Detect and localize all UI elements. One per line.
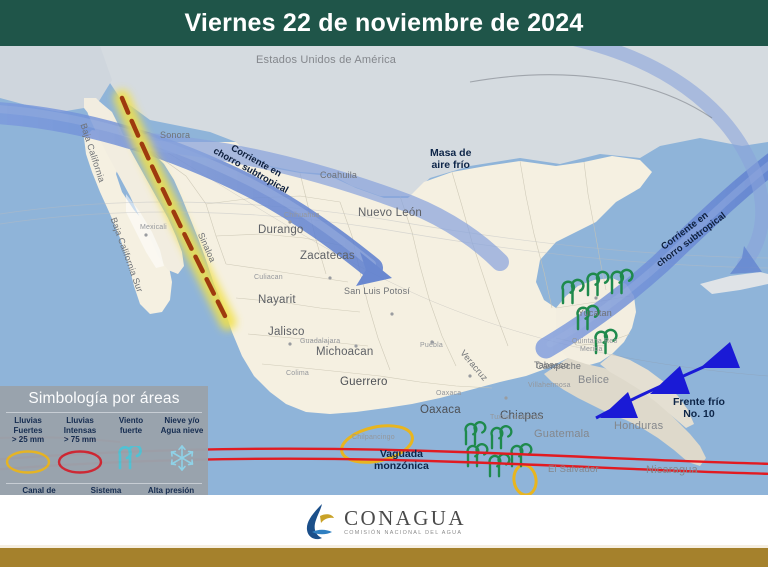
legend-divider-top (6, 412, 202, 413)
legend-item-intense-rain: Lluvias Intensas > 75 mm (54, 416, 106, 481)
legend-item-snow: Nieve y/o Agua nieve (156, 416, 208, 478)
monsoon-trough-line1: Vaguada (374, 448, 429, 460)
legend-item-frontal-system: Sistema frontal (76, 486, 136, 495)
cold-front-annotation: Frente frío No. 10 (673, 396, 725, 420)
legend-low-pressure-l1: Canal de (2, 486, 76, 495)
legend-snow-l2: Agua nieve (156, 426, 208, 436)
footer-gold-bar (0, 548, 768, 567)
legend-strong-wind-art (106, 446, 156, 480)
footer-bar: CONAGUA COMISIÓN NACIONAL DEL AGUA (0, 495, 768, 548)
legend-intense-rain-art (54, 447, 106, 481)
legend-intense-rain-caption: Lluvias Intensas > 75 mm (54, 416, 106, 445)
conagua-name: CONAGUA (344, 508, 466, 528)
legend-item-strong-wind: Viento fuerte (106, 416, 156, 480)
conagua-subtitle: COMISIÓN NACIONAL DEL AGUA (344, 530, 466, 536)
cold-air-mass-line1: Masa de (430, 147, 471, 159)
legend-item-low-pressure: Canal de baja presión (2, 486, 76, 495)
cold-front-line2: No. 10 (673, 408, 725, 420)
snowflake-icon (156, 444, 208, 472)
wind-swirl-icon (106, 446, 156, 472)
legend-item-high-pressure: Canal de Alta presión A (136, 486, 206, 495)
weather-map: Estados Unidos de América Baja Californi… (0, 46, 768, 495)
legend-frontal-l1: Sistema (76, 486, 136, 495)
page-title: Viernes 22 de noviembre de 2024 (0, 0, 768, 46)
legend-snow-art (156, 444, 208, 478)
conagua-logo: CONAGUA COMISIÓN NACIONAL DEL AGUA (0, 495, 768, 548)
legend-snow-l1: Nieve y/o (156, 416, 208, 426)
legend-intense-rain-l1: Lluvias (54, 416, 106, 426)
legend-strong-wind-l2: fuerte (106, 426, 156, 436)
cold-front-line1: Frente frío (673, 396, 725, 408)
legend-heavy-rain-l2: Fuertes (2, 426, 54, 436)
legend-strong-wind-l1: Viento (106, 416, 156, 426)
legend-low-pressure-caption: Canal de baja presión (2, 486, 76, 495)
cold-air-mass-line2: aire frío (430, 159, 471, 171)
weather-map-page: Viernes 22 de noviembre de 2024 (0, 0, 768, 567)
legend-divider-mid (6, 483, 202, 484)
legend-heavy-rain-art (2, 447, 54, 481)
yellow-ellipse-icon (2, 447, 54, 477)
legend-intense-rain-l3: > 75 mm (54, 435, 106, 445)
conagua-water-drop-icon (302, 502, 336, 542)
header-bar: Viernes 22 de noviembre de 2024 (0, 0, 768, 46)
legend-title: Simbología por áreas (0, 390, 208, 408)
red-ellipse-icon (54, 447, 106, 477)
legend-item-heavy-rain: Lluvias Fuertes > 25 mm (2, 416, 54, 481)
monsoon-trough-line2: monzónica (374, 460, 429, 472)
legend-frontal-caption: Sistema frontal (76, 486, 136, 495)
cold-air-mass-annotation: Masa de aire frío (430, 147, 471, 171)
legend-panel: Simbología por áreas Lluvias Fuertes > 2… (0, 386, 208, 495)
legend-snow-caption: Nieve y/o Agua nieve (156, 416, 208, 435)
legend-heavy-rain-l3: > 25 mm (2, 435, 54, 445)
legend-intense-rain-l2: Intensas (54, 426, 106, 436)
conagua-logo-text: CONAGUA COMISIÓN NACIONAL DEL AGUA (344, 508, 466, 536)
legend-heavy-rain-l1: Lluvias (2, 416, 54, 426)
legend-strong-wind-caption: Viento fuerte (106, 416, 156, 435)
legend-heavy-rain-caption: Lluvias Fuertes > 25 mm (2, 416, 54, 445)
monsoon-trough-annotation: Vaguada monzónica (374, 448, 429, 472)
